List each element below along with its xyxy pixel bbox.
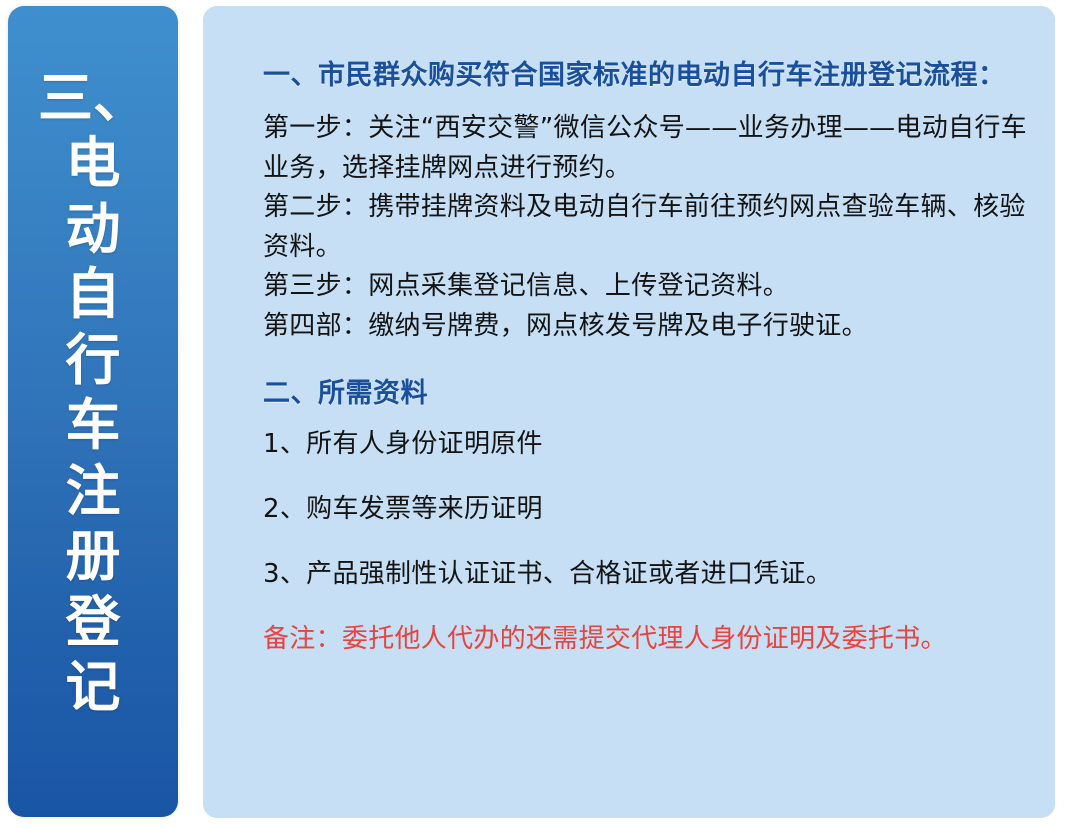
sidebar-title-char: 记 (8, 655, 178, 720)
section-two-heading: 二、所需资料 (263, 376, 1027, 411)
sidebar-title-char: 注 (8, 459, 178, 524)
sidebar-title-char: 行 (8, 328, 178, 393)
sidebar-title-char: 三、 (8, 66, 178, 131)
section-one-step: 第二步：携带挂牌资料及电动自行车前往预约网点查验车辆、核验资料。 (263, 188, 1027, 267)
required-document-item: 2、购车发票等来历证明 (263, 490, 1027, 529)
section-one-heading: 一、市民群众购买符合国家标准的电动自行车注册登记流程： (263, 58, 1027, 93)
sidebar-title-char: 动 (8, 197, 178, 262)
section-one-step: 第一步：关注“西安交警”微信公众号——业务办理——电动自行车业务，选择挂牌网点进… (263, 109, 1027, 188)
poster-root: 三、 电 动 自 行 车 注 册 登 记 一、市民群众购买符合国家标准的电动自行… (0, 0, 1080, 828)
sidebar-vertical-title: 三、 电 动 自 行 车 注 册 登 记 (8, 66, 178, 773)
sidebar-title-char: 电 (8, 131, 178, 196)
required-document-item: 3、产品强制性认证证书、合格证或者进口凭证。 (263, 555, 1027, 594)
sidebar-title-char: 自 (8, 262, 178, 327)
sidebar-title-char: 登 (8, 590, 178, 655)
required-document-item: 1、所有人身份证明原件 (263, 425, 1027, 464)
vertical-title-sidebar: 三、 电 动 自 行 车 注 册 登 记 (8, 6, 178, 817)
content-panel-inner: 一、市民群众购买符合国家标准的电动自行车注册登记流程： 第一步：关注“西安交警”… (263, 58, 1027, 659)
remark-note: 备注：委托他人代办的还需提交代理人身份证明及委托书。 (263, 620, 1027, 659)
section-one-step: 第三步：网点采集登记信息、上传登记资料。 (263, 267, 1027, 307)
content-panel: 一、市民群众购买符合国家标准的电动自行车注册登记流程： 第一步：关注“西安交警”… (203, 6, 1055, 818)
section-one-step: 第四部：缴纳号牌费，网点核发号牌及电子行驶证。 (263, 307, 1027, 347)
sidebar-title-char: 车 (8, 393, 178, 458)
sidebar-title-char: 册 (8, 524, 178, 589)
